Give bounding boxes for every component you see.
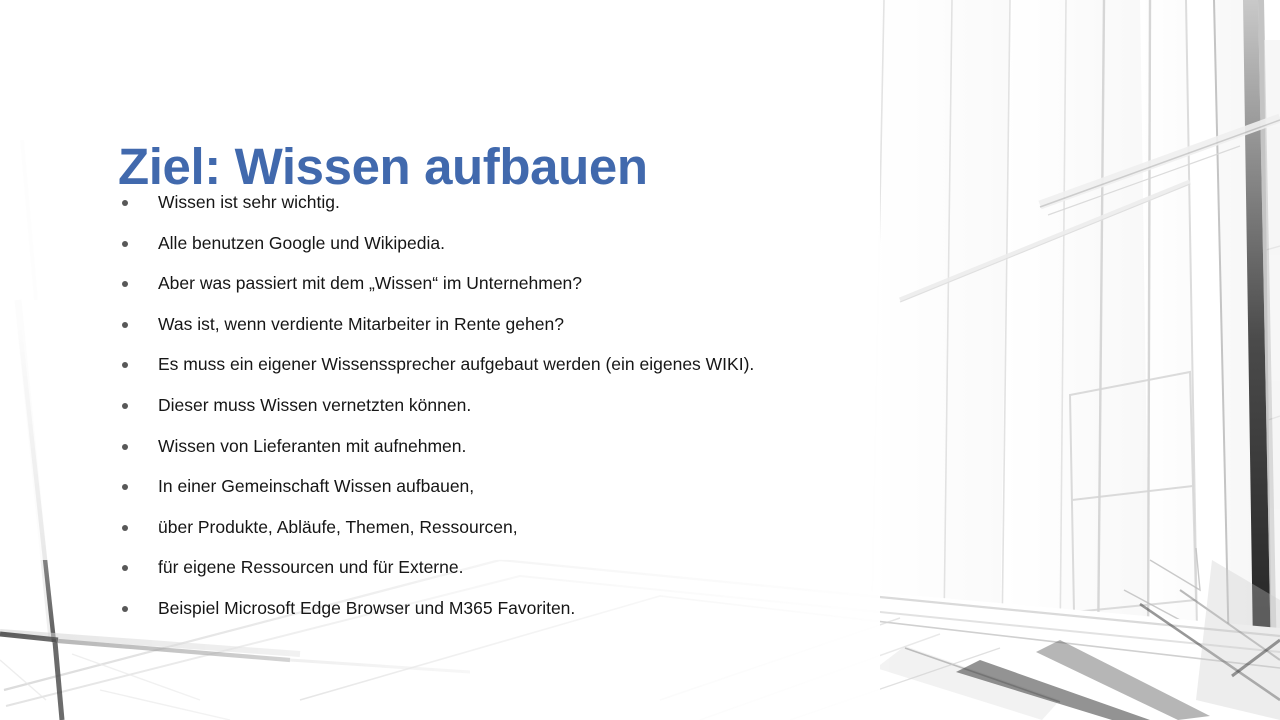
bullet-point-icon <box>122 362 128 368</box>
bullet-point-icon <box>122 403 128 409</box>
list-item: Es muss ein eigener Wissenssprecher aufg… <box>118 350 1118 391</box>
bullet-point-icon <box>122 525 128 531</box>
list-item: Beispiel Microsoft Edge Browser und M365… <box>118 594 1118 635</box>
list-item-label: Beispiel Microsoft Edge Browser und M365… <box>158 594 575 623</box>
list-item-label: Wissen ist sehr wichtig. <box>158 188 340 217</box>
bullet-point-icon <box>122 565 128 571</box>
list-item: Was ist, wenn verdiente Mitarbeiter in R… <box>118 310 1118 351</box>
bullet-point-icon <box>122 606 128 612</box>
bullet-point-icon <box>122 322 128 328</box>
list-item: Dieser muss Wissen vernetzten können. <box>118 391 1118 432</box>
list-item-label: Wissen von Lieferanten mit aufnehmen. <box>158 432 466 461</box>
list-item-label: In einer Gemeinschaft Wissen aufbauen, <box>158 472 474 501</box>
list-item: Wissen von Lieferanten mit aufnehmen. <box>118 432 1118 473</box>
bullet-point-icon <box>122 281 128 287</box>
bullet-point-icon <box>122 200 128 206</box>
list-item: für eigene Ressourcen und für Externe. <box>118 553 1118 594</box>
list-item: Aber was passiert mit dem „Wissen“ im Un… <box>118 269 1118 310</box>
slide-content: Ziel: Wissen aufbauen Wissen ist sehr wi… <box>0 0 1280 720</box>
bullet-point-icon <box>122 484 128 490</box>
list-item: Wissen ist sehr wichtig. <box>118 188 1118 229</box>
bullet-list: Wissen ist sehr wichtig. Alle benutzen G… <box>118 188 1118 635</box>
list-item: In einer Gemeinschaft Wissen aufbauen, <box>118 472 1118 513</box>
bullet-point-icon <box>122 444 128 450</box>
list-item-label: Was ist, wenn verdiente Mitarbeiter in R… <box>158 310 564 339</box>
list-item-label: Aber was passiert mit dem „Wissen“ im Un… <box>158 269 582 298</box>
list-item-label: Dieser muss Wissen vernetzten können. <box>158 391 471 420</box>
list-item-label: über Produkte, Abläufe, Themen, Ressourc… <box>158 513 518 542</box>
bullet-point-icon <box>122 241 128 247</box>
list-item-label: Alle benutzen Google und Wikipedia. <box>158 229 445 258</box>
list-item: Alle benutzen Google und Wikipedia. <box>118 229 1118 270</box>
list-item: über Produkte, Abläufe, Themen, Ressourc… <box>118 513 1118 554</box>
list-item-label: für eigene Ressourcen und für Externe. <box>158 553 463 582</box>
list-item-label: Es muss ein eigener Wissenssprecher aufg… <box>158 350 754 379</box>
presentation-slide: Ziel: Wissen aufbauen Wissen ist sehr wi… <box>0 0 1280 720</box>
